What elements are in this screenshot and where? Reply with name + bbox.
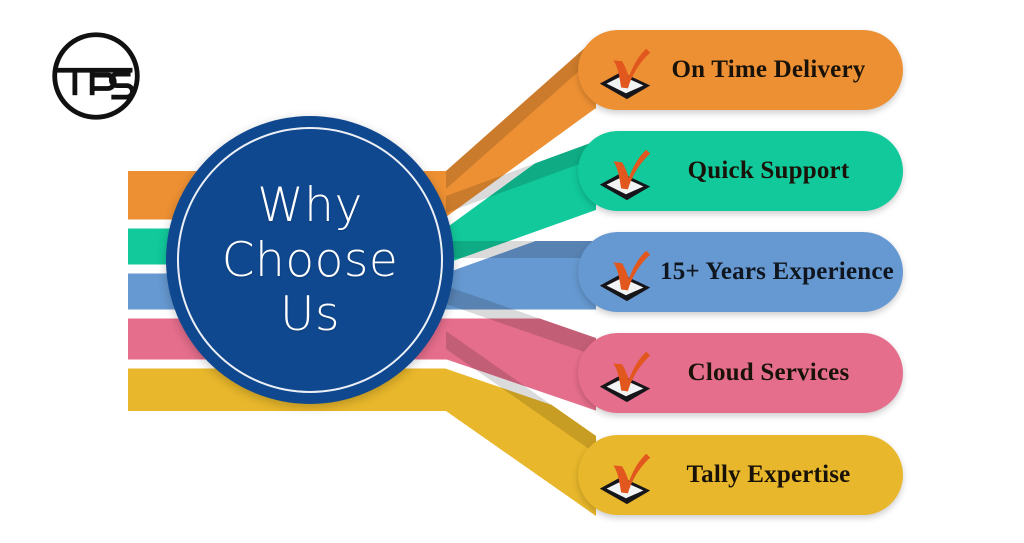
feature-label: Tally Expertise (656, 461, 903, 489)
feature-banner-cloud-services[interactable]: Cloud Services (578, 333, 903, 413)
title-line-3: Us (222, 287, 399, 342)
feature-label: On Time Delivery (656, 56, 903, 84)
feature-banner-quick-support[interactable]: Quick Support (578, 131, 903, 211)
checkbox-tick-icon (594, 241, 656, 303)
checkbox-tick-icon (594, 39, 656, 101)
feature-label: 15+ Years Experience (656, 258, 920, 286)
checkbox-tick-icon (594, 140, 656, 202)
feature-banner-years-experience[interactable]: 15+ Years Experience (578, 232, 903, 312)
feature-banner-tally-expertise[interactable]: Tally Expertise (578, 435, 903, 515)
feature-label: Quick Support (656, 157, 903, 185)
feature-banner-on-time-delivery[interactable]: On Time Delivery (578, 30, 903, 110)
title-line-1: Why (222, 178, 399, 233)
infographic-canvas: Why Choose Us On Time Delivery (0, 0, 1024, 543)
page-title: Why Choose Us (222, 178, 399, 343)
center-circle: Why Choose Us (166, 116, 454, 404)
feature-label: Cloud Services (656, 359, 903, 387)
checkbox-tick-icon (594, 342, 656, 404)
title-line-2: Choose (222, 233, 399, 288)
checkbox-tick-icon (594, 444, 656, 506)
